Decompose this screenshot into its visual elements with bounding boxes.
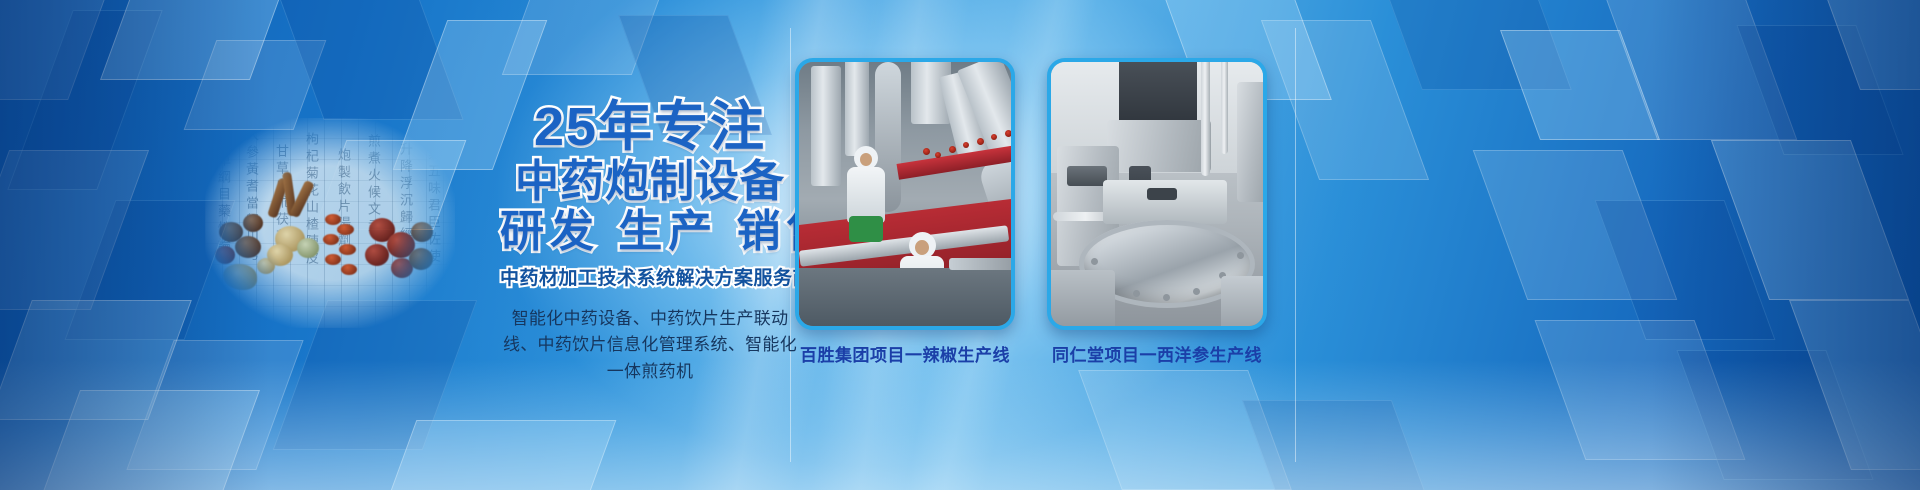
herb-collage: 本草綱目藥性論 人參黃耆當歸川芎 甘草白朮茯苓 枸杞菊花山楂陳皮 炮製飲片湯劑 … <box>205 118 455 328</box>
project-card-caption: 百胜集团项目一辣椒生产线 <box>795 341 1015 366</box>
content-divider-right <box>1295 28 1296 462</box>
project-card-caption: 同仁堂项目一西洋参生产线 <box>1047 341 1267 366</box>
headline-block: 25年专注 中药炮制设备 研发 生产 销售 中药材加工技术系统解决方案服务商 智… <box>500 100 800 385</box>
project-cards: 百胜集团项目一辣椒生产线 <box>795 58 1267 366</box>
headline-line-3: 研发 生产 销售 <box>500 210 800 254</box>
headline-line-2: 中药炮制设备 <box>500 160 800 204</box>
hero-banner: 本草綱目藥性論 人參黃耆當歸川芎 甘草白朮茯苓 枸杞菊花山楂陳皮 炮製飲片湯劑 … <box>0 0 1920 490</box>
ginseng-extraction-tank-photo <box>1047 58 1267 330</box>
project-card[interactable]: 同仁堂项目一西洋参生产线 <box>1047 58 1267 366</box>
headline-subtitle: 中药材加工技术系统解决方案服务商 <box>500 263 800 290</box>
herb-specimens <box>205 118 455 328</box>
chilli-production-line-photo <box>795 58 1015 330</box>
headline-description: 智能化中药设备、中药饮片生产联动线、中药饮片信息化管理系统、智能化一体煎药机 <box>500 306 800 385</box>
project-card[interactable]: 百胜集团项目一辣椒生产线 <box>795 58 1015 366</box>
headline-line-1: 25年专注 <box>500 100 800 154</box>
